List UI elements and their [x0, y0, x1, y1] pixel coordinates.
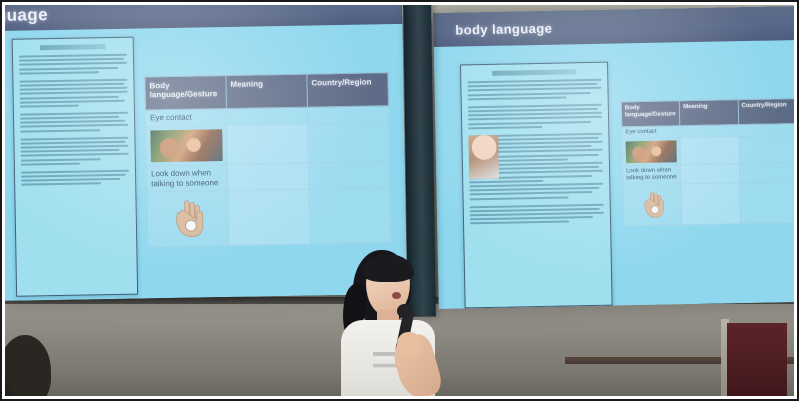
- left-body-language-table: Body language/Gesture Meaning Country/Re…: [144, 72, 391, 247]
- document-heading: [493, 69, 576, 76]
- cell-meaning: [680, 137, 739, 165]
- cell-meaning: [681, 164, 740, 184]
- cell-country: [739, 163, 794, 183]
- cell-gesture: Eye contact: [622, 126, 681, 139]
- cell-gesture-image: [623, 184, 682, 226]
- table-row: [623, 182, 794, 226]
- photo-content: anguage: [5, 5, 794, 396]
- document-paragraph: [470, 203, 604, 224]
- table-row: [622, 136, 794, 166]
- cell-meaning: [681, 183, 740, 225]
- presenter: [335, 248, 453, 396]
- ok-hand-gesture-icon: [640, 189, 665, 221]
- document-heading: [39, 44, 106, 50]
- people-photo-icon: [625, 140, 677, 163]
- left-slide-titlebar: anguage: [5, 5, 402, 31]
- people-photo-icon: [150, 129, 223, 162]
- column-header-country: Country/Region: [307, 73, 389, 108]
- table-row: [146, 123, 390, 166]
- cell-country: [308, 123, 390, 163]
- document-paragraph: [467, 79, 601, 100]
- cell-meaning: [226, 107, 307, 125]
- column-header-meaning: Meaning: [226, 74, 308, 109]
- cell-meaning: [227, 124, 309, 164]
- cell-country: [739, 182, 794, 224]
- cell-meaning: [680, 124, 739, 137]
- right-slide-title: body language: [455, 20, 552, 37]
- cell-gesture: Look down when talking to someone: [622, 165, 681, 185]
- cell-meaning: [228, 189, 310, 245]
- cell-country: [739, 136, 794, 164]
- table-row: [147, 188, 391, 247]
- cell-country: [738, 123, 794, 136]
- microphone-head: [397, 304, 412, 318]
- presenter-fringe: [362, 254, 414, 282]
- document-paragraph-with-figure: [468, 132, 603, 185]
- portrait-photo-icon: [468, 134, 499, 179]
- right-body-language-table: Body language/Gesture Meaning Country/Re…: [621, 98, 794, 227]
- document-paragraph: [21, 169, 129, 185]
- cell-gesture: Look down when talking to someone: [146, 164, 227, 192]
- right-slide: body language: [433, 6, 794, 309]
- left-slide-title: anguage: [5, 5, 48, 26]
- cell-gesture-image: [147, 191, 229, 247]
- cell-gesture-image: [622, 138, 681, 166]
- cell-country: [307, 106, 388, 124]
- document-paragraph: [19, 78, 127, 107]
- table-header-row: Body language/Gesture Meaning Country/Re…: [621, 99, 794, 127]
- column-header-country: Country/Region: [738, 99, 794, 125]
- right-slide-titlebar: body language: [433, 6, 794, 47]
- document-paragraph: [20, 112, 128, 133]
- document-paragraph: [468, 104, 602, 130]
- right-slide-document: [460, 62, 613, 309]
- left-slide-document: [12, 37, 138, 297]
- cell-gesture-image: [146, 125, 228, 165]
- column-header-gesture: Body language/Gesture: [621, 101, 680, 127]
- maroon-panel: [727, 323, 787, 396]
- cell-country: [308, 162, 389, 190]
- presenter-mouth: [392, 292, 401, 299]
- presenter-hand: [397, 332, 421, 358]
- right-projection-screen: body language: [433, 6, 794, 309]
- ok-hand-gesture-icon: [170, 197, 205, 242]
- column-header-gesture: Body language/Gesture: [145, 76, 227, 111]
- cell-gesture: Eye contact: [145, 109, 226, 127]
- document-paragraph: [20, 136, 128, 165]
- document-paragraph: [19, 54, 127, 75]
- document-paragraph: [469, 183, 603, 200]
- column-header-meaning: Meaning: [680, 100, 739, 126]
- photograph: anguage: [0, 0, 799, 401]
- cell-meaning: [227, 163, 308, 191]
- cell-country: [309, 188, 391, 244]
- table-header-row: Body language/Gesture Meaning Country/Re…: [145, 73, 389, 111]
